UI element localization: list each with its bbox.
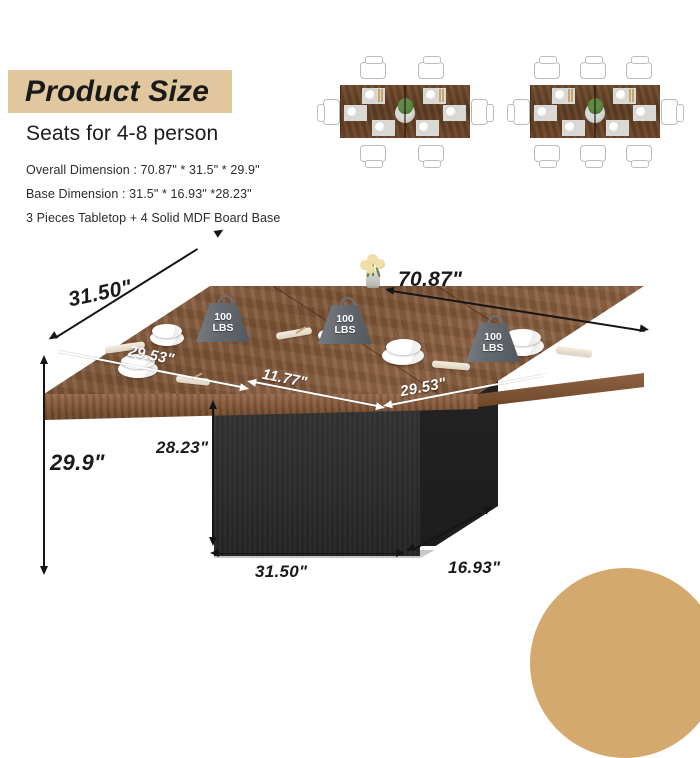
weight-block-center: 100 LBS	[318, 298, 372, 344]
plate	[374, 121, 386, 133]
chair-bottom-2	[580, 145, 606, 162]
dim-arrow-end	[639, 324, 649, 333]
plate	[364, 89, 376, 101]
plate	[635, 106, 647, 118]
dim-label-base-width: 31.50"	[255, 562, 307, 582]
dim-arrow-bottom	[209, 537, 217, 546]
chair-top-2	[580, 62, 606, 79]
weight-value: 100	[336, 314, 354, 325]
infographic-canvas: Product Size Seats for 4-8 person Overal…	[0, 0, 700, 700]
chair-bottom-1	[360, 145, 386, 162]
table-top-view	[530, 85, 660, 138]
chair-right-1	[661, 99, 678, 125]
seating-diagram-six-seat	[318, 58, 493, 166]
weight-body: 100 LBS	[466, 323, 520, 362]
spec-overall-dimension: Overall Dimension : 70.87" * 31.5" * 29.…	[26, 163, 260, 177]
plate	[615, 89, 627, 101]
plate-stack	[152, 324, 182, 338]
weight-block-left: 100 LBS	[196, 296, 250, 342]
dim-label-base-height: 28.23"	[156, 438, 208, 458]
weight-body: 100 LBS	[318, 305, 372, 344]
dim-arrow-bottom	[40, 566, 48, 575]
dim-label-base-depth: 16.93"	[448, 558, 500, 578]
weight-body: 100 LBS	[196, 303, 250, 342]
plate	[425, 89, 437, 101]
weight-unit: LBS	[335, 325, 356, 336]
dim-arrow-end	[396, 549, 405, 557]
spec-base-dimension: Base Dimension : 31.5" * 16.93" *28.23"	[26, 187, 252, 201]
chair-left-1	[323, 99, 340, 125]
flower-bloom	[375, 259, 385, 269]
chair-top-1	[360, 62, 386, 79]
weight-unit: LBS	[483, 343, 504, 354]
cutlery	[629, 89, 636, 102]
dim-label-tabletop-length: 70.87"	[398, 268, 462, 292]
plate	[445, 106, 457, 118]
plate	[554, 89, 566, 101]
weight-value: 100	[484, 332, 502, 343]
weight-block-right: 100 LBS	[466, 316, 520, 362]
dim-arrow-end	[214, 226, 226, 238]
chair-bottom-1	[534, 145, 560, 162]
weight-unit: LBS	[213, 323, 234, 334]
plate	[346, 106, 358, 118]
seating-capacity-subtitle: Seats for 4-8 person	[26, 122, 218, 146]
chair-right-1	[471, 99, 488, 125]
spec-construction: 3 Pieces Tabletop + 4 Solid MDF Board Ba…	[26, 211, 280, 225]
cutlery	[439, 89, 446, 102]
flower-vase	[360, 254, 386, 288]
seating-diagram-eight-seat	[508, 58, 683, 166]
centerpiece-plant	[585, 103, 605, 123]
tabletop-right-edge	[478, 373, 644, 407]
pedestal-base-front	[214, 408, 420, 556]
cutlery	[568, 89, 575, 102]
chair-top-1	[534, 62, 560, 79]
plate-stack	[386, 339, 421, 355]
dim-arrow-end	[542, 371, 552, 381]
chair-bottom-3	[626, 145, 652, 162]
dim-line-total-height	[43, 362, 45, 566]
napkin	[556, 346, 593, 357]
dim-arrow-start	[246, 377, 256, 387]
cutlery	[378, 89, 385, 102]
plate	[536, 106, 548, 118]
plate	[418, 121, 430, 133]
dim-label-total-height: 29.9"	[50, 450, 105, 476]
weight-value: 100	[214, 312, 232, 323]
dim-arrow-start	[210, 549, 219, 557]
dim-arrow-start	[48, 346, 58, 356]
plate	[564, 121, 576, 133]
chair-top-3	[626, 62, 652, 79]
page-title: Product Size	[8, 77, 209, 107]
plate	[608, 121, 620, 133]
dim-line-base-width	[219, 553, 399, 555]
chair-bottom-2	[418, 145, 444, 162]
dim-arrow-start	[382, 400, 392, 410]
chair-top-2	[418, 62, 444, 79]
flower-bloom	[366, 265, 375, 274]
centerpiece-plant	[395, 103, 415, 123]
product-size-banner: Product Size	[8, 70, 232, 113]
chair-left-1	[513, 99, 530, 125]
dim-line-base-height	[212, 407, 214, 537]
table-top-view	[340, 85, 470, 138]
dim-arrow-start	[384, 285, 394, 294]
